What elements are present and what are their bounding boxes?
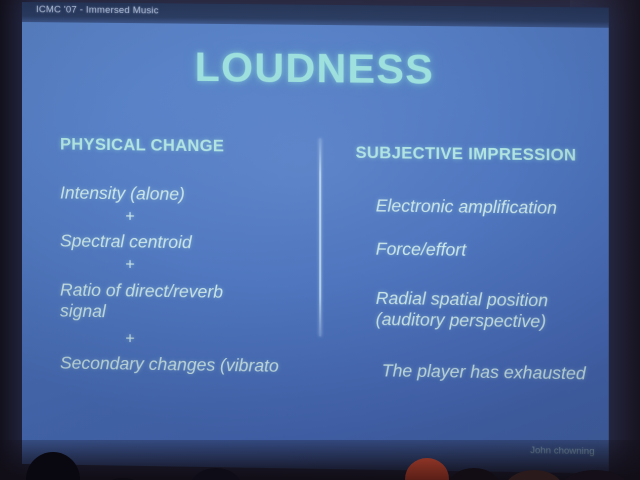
- left-item-secondary-changes: Secondary changes (vibrato: [60, 353, 279, 377]
- column-heading-physical-change: PHYSICAL CHANGE: [60, 135, 224, 156]
- right-item-electronic-amplification: Electronic amplification: [376, 195, 557, 218]
- left-connector-plus-2: +: [125, 256, 134, 274]
- left-connector-plus-3: +: [125, 330, 134, 348]
- column-divider: [319, 138, 321, 336]
- lecture-room-photo: ICMC '07 - Immersed Music LOUDNESS PHYSI…: [0, 0, 640, 480]
- slide-title: LOUDNESS: [22, 42, 609, 95]
- column-heading-subjective-impression: SUBJECTIVE IMPRESSION: [356, 144, 577, 166]
- presentation-slide: ICMC '07 - Immersed Music LOUDNESS PHYSI…: [22, 2, 609, 474]
- right-item-force-effort: Force/effort: [376, 239, 466, 261]
- right-item-radial-spatial-position: Radial spatial position (auditory perspe…: [376, 288, 548, 332]
- right-item-player-has-exhausted: The player has exhausted: [382, 360, 586, 384]
- projection-screen: ICMC '07 - Immersed Music LOUDNESS PHYSI…: [22, 2, 609, 474]
- left-item-ratio-direct-reverb: Ratio of direct/reverb signal: [60, 280, 223, 324]
- left-item-intensity: Intensity (alone): [60, 182, 185, 204]
- left-connector-plus-1: +: [125, 208, 134, 226]
- slide-header-text: ICMC '07 - Immersed Music: [36, 4, 159, 16]
- left-item-spectral-centroid: Spectral centroid: [60, 230, 192, 252]
